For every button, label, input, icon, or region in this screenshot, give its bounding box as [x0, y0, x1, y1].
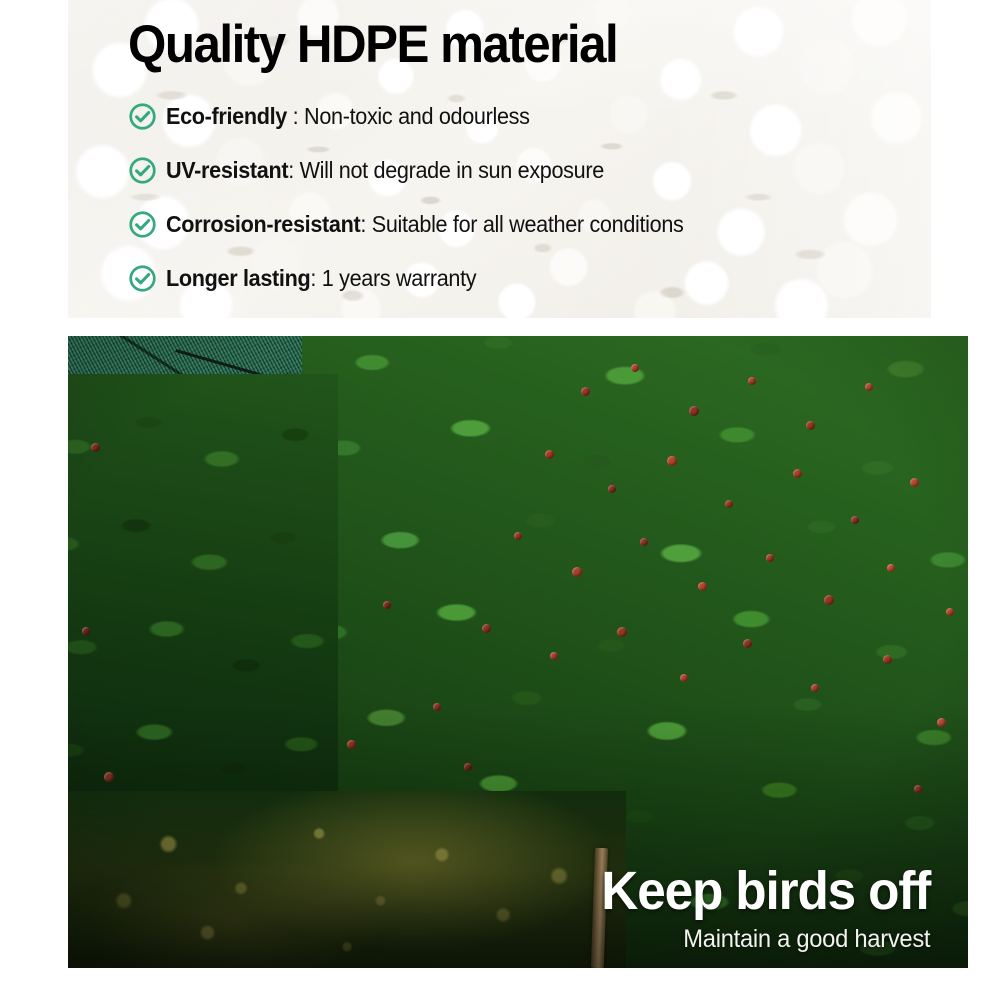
feature-item-uv-resistant: UV-resistant: Will not degrade in sun ex… — [128, 143, 928, 197]
feature-detail: 1 years warranty — [322, 265, 477, 291]
material-copy-block: Quality HDPE material Eco-friendly : Non… — [128, 18, 928, 305]
feature-item-corrosion-resistant: Corrosion-resistant: Suitable for all we… — [128, 197, 928, 251]
check-circle-icon — [128, 156, 157, 185]
check-circle-icon — [128, 102, 157, 131]
orchard-subline: Maintain a good harvest — [601, 925, 930, 954]
feature-detail: Will not degrade in sun exposure — [300, 157, 604, 183]
feature-text: Corrosion-resistant: Suitable for all we… — [166, 213, 684, 236]
page-title: Quality HDPE material — [128, 18, 872, 71]
feature-detail: Non-toxic and odourless — [304, 103, 530, 129]
product-feature-banner: Quality HDPE material Eco-friendly : Non… — [0, 0, 1000, 1000]
feature-label: Corrosion-resistant — [166, 211, 360, 237]
orchard-copy-block: Keep birds off Maintain a good harvest — [584, 864, 930, 954]
feature-text: UV-resistant: Will not degrade in sun ex… — [166, 159, 604, 182]
feature-item-longer-lasting: Longer lasting: 1 years warranty — [128, 251, 928, 305]
orchard-headline: Keep birds off — [601, 864, 930, 919]
feature-label: Longer lasting — [166, 265, 310, 291]
feature-label: Eco-friendly — [166, 103, 287, 129]
check-circle-icon — [128, 210, 157, 239]
feature-list: Eco-friendly : Non-toxic and odourless U… — [128, 89, 928, 305]
feature-separator: : — [360, 211, 371, 237]
check-circle-icon — [128, 264, 157, 293]
feature-separator: : — [288, 157, 299, 183]
hdpe-material-panel: Quality HDPE material Eco-friendly : Non… — [68, 0, 931, 318]
feature-text: Eco-friendly : Non-toxic and odourless — [166, 105, 530, 128]
feature-separator: : — [287, 103, 304, 129]
feature-detail: Suitable for all weather conditions — [372, 211, 684, 237]
orchard-photo-panel: Keep birds off Maintain a good harvest — [68, 336, 968, 968]
feature-item-eco-friendly: Eco-friendly : Non-toxic and odourless — [128, 89, 928, 143]
feature-separator: : — [310, 265, 321, 291]
feature-label: UV-resistant — [166, 157, 288, 183]
feature-text: Longer lasting: 1 years warranty — [166, 267, 476, 290]
